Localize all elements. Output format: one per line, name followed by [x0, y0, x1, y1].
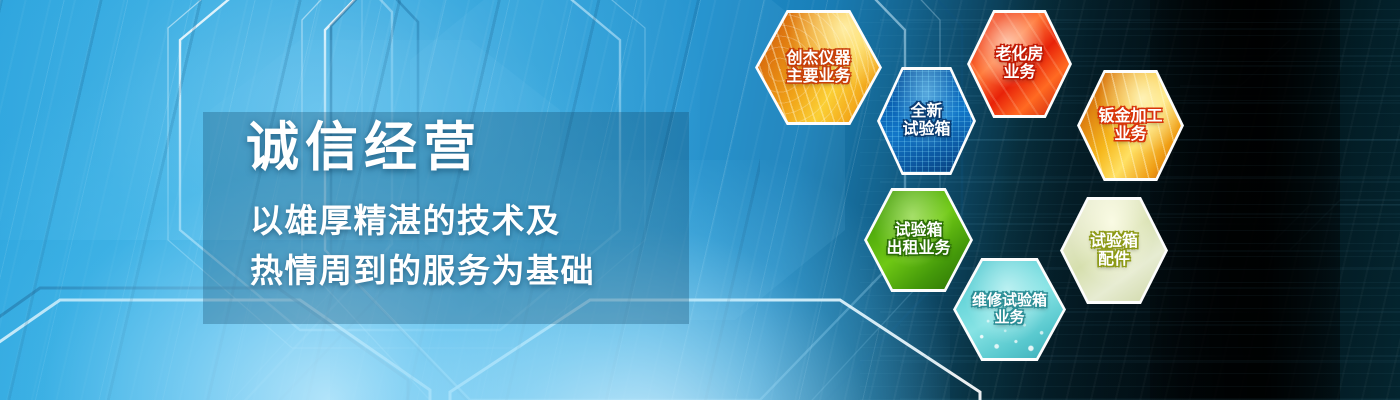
- hexagon-tile-sheet-metal-processing-business[interactable]: 钣金加工 业务: [1077, 70, 1184, 181]
- hexagon-tile-test-chamber-repair-business[interactable]: 维修试验箱 业务: [953, 258, 1066, 361]
- business-hexagon-cluster: 创杰仪器 主要业务全新 试验箱老化房 业务钣金加工 业务试验箱 出租业务维修试验…: [0, 0, 1400, 400]
- hexagon-tile-test-chamber-accessories[interactable]: 试验箱 配件: [1060, 197, 1168, 304]
- promo-banner: 诚信经营 以雄厚精湛的技术及 热情周到的服务为基础 创杰仪器 主要业务全新 试验…: [0, 0, 1400, 400]
- hexagon-tile-aging-room-business[interactable]: 老化房 业务: [967, 10, 1072, 118]
- hexagon-tile-chuangjie-main-business[interactable]: 创杰仪器 主要业务: [755, 10, 882, 125]
- hexagon-tile-brand-new-test-chamber[interactable]: 全新 试验箱: [877, 67, 976, 175]
